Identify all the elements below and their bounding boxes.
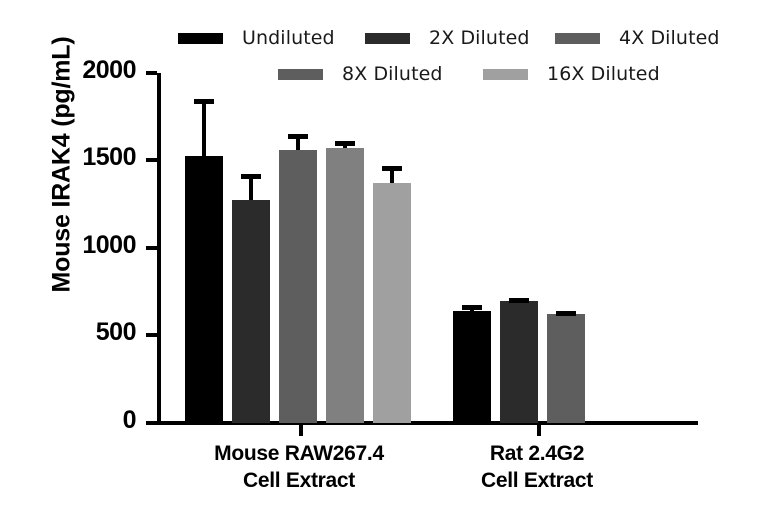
- error-bar-cap-4x-diluted-g1: [288, 134, 308, 139]
- error-bar-cap-undiluted-g2: [462, 305, 482, 310]
- x-group-label-1: Mouse RAW267.4 Cell Extract: [179, 440, 419, 494]
- error-bar-cap-4x-diluted-g2: [556, 311, 576, 316]
- y-tick-label-1500: 1500: [46, 143, 136, 172]
- error-bar-cap-8x-diluted-g1: [335, 141, 355, 146]
- y-tick-label-500: 500: [46, 318, 136, 347]
- y-tick-label-2000: 2000: [46, 56, 136, 85]
- error-bar-stem-undiluted-g1: [202, 99, 206, 156]
- bar-2x-diluted-g2: [500, 301, 538, 424]
- y-tick-0: [146, 421, 157, 425]
- y-tick-1000: [146, 246, 157, 250]
- x-tick-group-2: [537, 425, 541, 436]
- x-group-label-1-line2: Cell Extract: [179, 467, 419, 494]
- bar-4x-diluted-g2: [547, 314, 585, 423]
- bar-2x-diluted-g1: [232, 200, 270, 423]
- y-axis-title: Mouse IRAK4 (pg/mL): [48, 0, 77, 345]
- y-tick-2000: [146, 71, 157, 75]
- x-tick-group-1: [299, 425, 303, 436]
- x-group-label-2: Rat 2.4G2 Cell Extract: [437, 440, 637, 494]
- bar-group-rat-2-4g2: [453, 73, 593, 423]
- bar-16x-diluted-g1: [373, 183, 411, 423]
- error-bar-cap-undiluted-g1: [194, 99, 214, 104]
- error-bar-cap-16x-diluted-g1: [382, 166, 402, 171]
- y-tick-1500: [146, 158, 157, 162]
- plot-area: Mouse IRAK4 (pg/mL) 2000 1500 1000 500 0…: [0, 0, 768, 526]
- y-axis-line: [157, 73, 161, 425]
- y-tick-500: [146, 333, 157, 337]
- bar-4x-diluted-g1: [279, 150, 317, 423]
- error-bar-cap-2x-diluted-g1: [241, 174, 261, 179]
- bar-chart: Undiluted 2X Diluted 4X Diluted 8X Dilut…: [0, 0, 768, 526]
- bar-group-mouse-raw267-4: [185, 73, 415, 423]
- error-bar-cap-2x-diluted-g2: [509, 298, 529, 303]
- x-group-label-1-line1: Mouse RAW267.4: [179, 440, 419, 467]
- bar-undiluted-g2: [453, 311, 491, 423]
- y-tick-label-0: 0: [46, 406, 136, 435]
- x-group-label-2-line1: Rat 2.4G2: [437, 440, 637, 467]
- y-tick-label-1000: 1000: [46, 231, 136, 260]
- bar-undiluted-g1: [185, 156, 223, 423]
- bar-8x-diluted-g1: [326, 148, 364, 423]
- x-group-label-2-line2: Cell Extract: [437, 467, 637, 494]
